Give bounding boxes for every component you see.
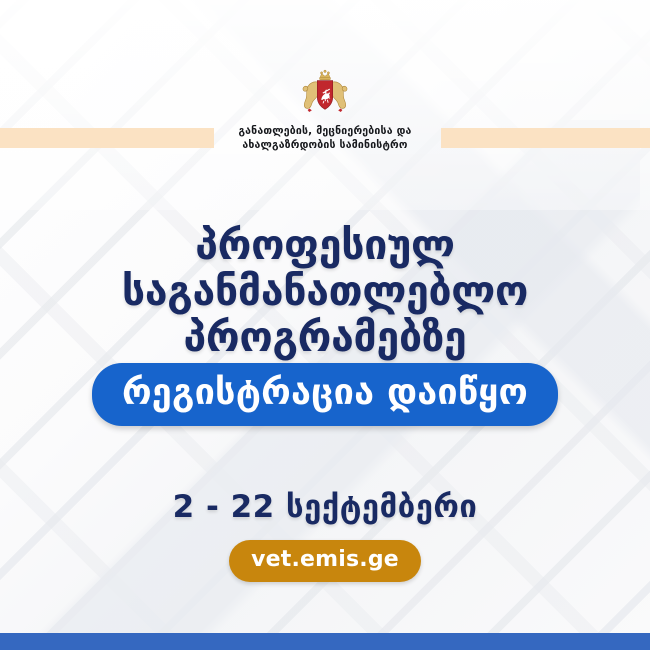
ministry-lockup: განათლების, მეცნიერებისა და ახალგაზრდობი…: [0, 68, 650, 152]
coat-of-arms-icon: [299, 68, 351, 118]
registration-open-badge[interactable]: რეგისტრაცია დაიწყო: [92, 363, 558, 426]
poster-canvas: განათლების, მეცნიერებისა და ახალგაზრდობი…: [0, 0, 650, 650]
headline: პროფესიულ საგანმანათლებლო პროგრამებზე: [0, 222, 650, 360]
cta-container: რეგისტრაცია დაიწყო: [0, 363, 650, 426]
headline-line-3: პროგრამებზე: [0, 314, 650, 360]
headline-line-1: პროფესიულ: [0, 222, 650, 268]
bottom-accent-bar: [0, 633, 650, 650]
ministry-name-text: განათლების, მეცნიერებისა და ახალგაზრდობი…: [238, 124, 411, 152]
website-link-badge[interactable]: vet.emis.ge: [229, 540, 421, 582]
url-container: vet.emis.ge: [0, 540, 650, 582]
date-range-text: 2 - 22 სექტემბერი: [0, 489, 650, 525]
headline-line-2: საგანმანათლებლო: [0, 268, 650, 314]
